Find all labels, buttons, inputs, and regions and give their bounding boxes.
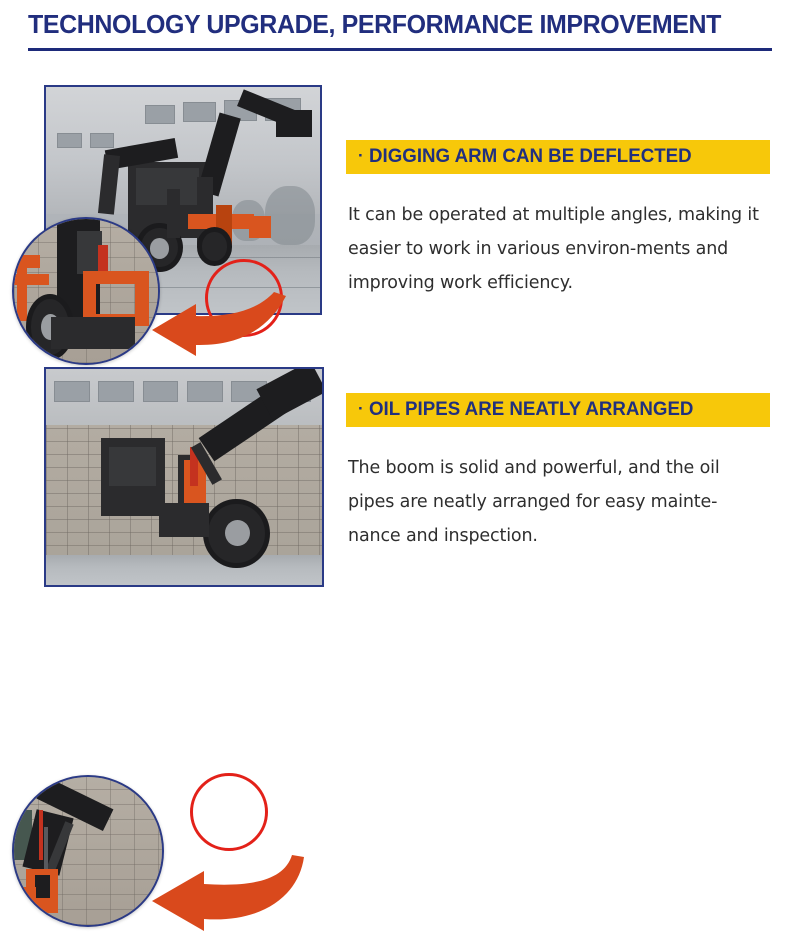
feature-heading-label: OIL PIPES ARE NEATLY ARRANGED: [369, 399, 693, 421]
feature-heading-oil-pipes: · OIL PIPES ARE NEATLY ARRANGED: [346, 393, 770, 427]
inset-axle: [51, 317, 135, 349]
building-window: [98, 381, 134, 402]
building-window: [145, 105, 175, 124]
magnified-digging-arm-swing-frame: [12, 217, 160, 365]
photo-tree: [265, 186, 314, 245]
stabilizer-orange: [249, 216, 271, 239]
title-underline-divider: [28, 48, 772, 51]
bullet-dot-icon: ·: [358, 147, 364, 164]
photo-ground: [46, 555, 322, 585]
building-window: [183, 102, 216, 122]
inset-oil-pipe-red: [39, 810, 43, 860]
feature-photo-oil-pipes: [44, 367, 324, 587]
inset-bracket-plate: [35, 875, 50, 899]
feature-heading-label: DIGGING ARM CAN BE DEFLECTED: [369, 146, 692, 168]
page-title: TECHNOLOGY UPGRADE, PERFORMANCE IMPROVEM…: [28, 8, 721, 40]
inset-oil-pipe-steel: [44, 827, 48, 874]
red-circle-highlight-oil-pipes: [190, 773, 268, 851]
building-window: [57, 133, 82, 148]
building-window: [90, 133, 115, 148]
bullet-dot-icon: ·: [358, 400, 364, 417]
machine-wheel: [197, 227, 233, 265]
building-window: [187, 381, 223, 402]
machine-cab-glass: [109, 447, 156, 486]
inset-orange-post: [17, 255, 27, 321]
feature-panel-oil-pipes: · OIL PIPES ARE NEATLY ARRANGED The boom…: [0, 345, 800, 645]
page-header: TECHNOLOGY UPGRADE, PERFORMANCE IMPROVEM…: [0, 0, 800, 62]
backhoe-bucket: [276, 110, 312, 137]
feature-body-oil-pipes: The boom is solid and powerful, and the …: [348, 451, 768, 553]
feature-heading-digging-arm: · DIGGING ARM CAN BE DEFLECTED: [346, 140, 770, 174]
building-window: [143, 381, 179, 402]
magnified-boom-oil-pipe-routing: [12, 775, 164, 927]
red-circle-highlight-digging-arm: [205, 259, 283, 337]
inset-red-lamp: [98, 245, 108, 274]
feature-body-digging-arm: It can be operated at multiple angles, m…: [348, 198, 768, 300]
feature-panel-digging-arm: · DIGGING ARM CAN BE DEFLECTED It can be…: [0, 62, 800, 357]
machine-axle: [159, 503, 209, 538]
hydraulic-cylinder: [167, 189, 181, 239]
inset-orange-bracket: [18, 887, 36, 920]
building-window: [54, 381, 90, 402]
